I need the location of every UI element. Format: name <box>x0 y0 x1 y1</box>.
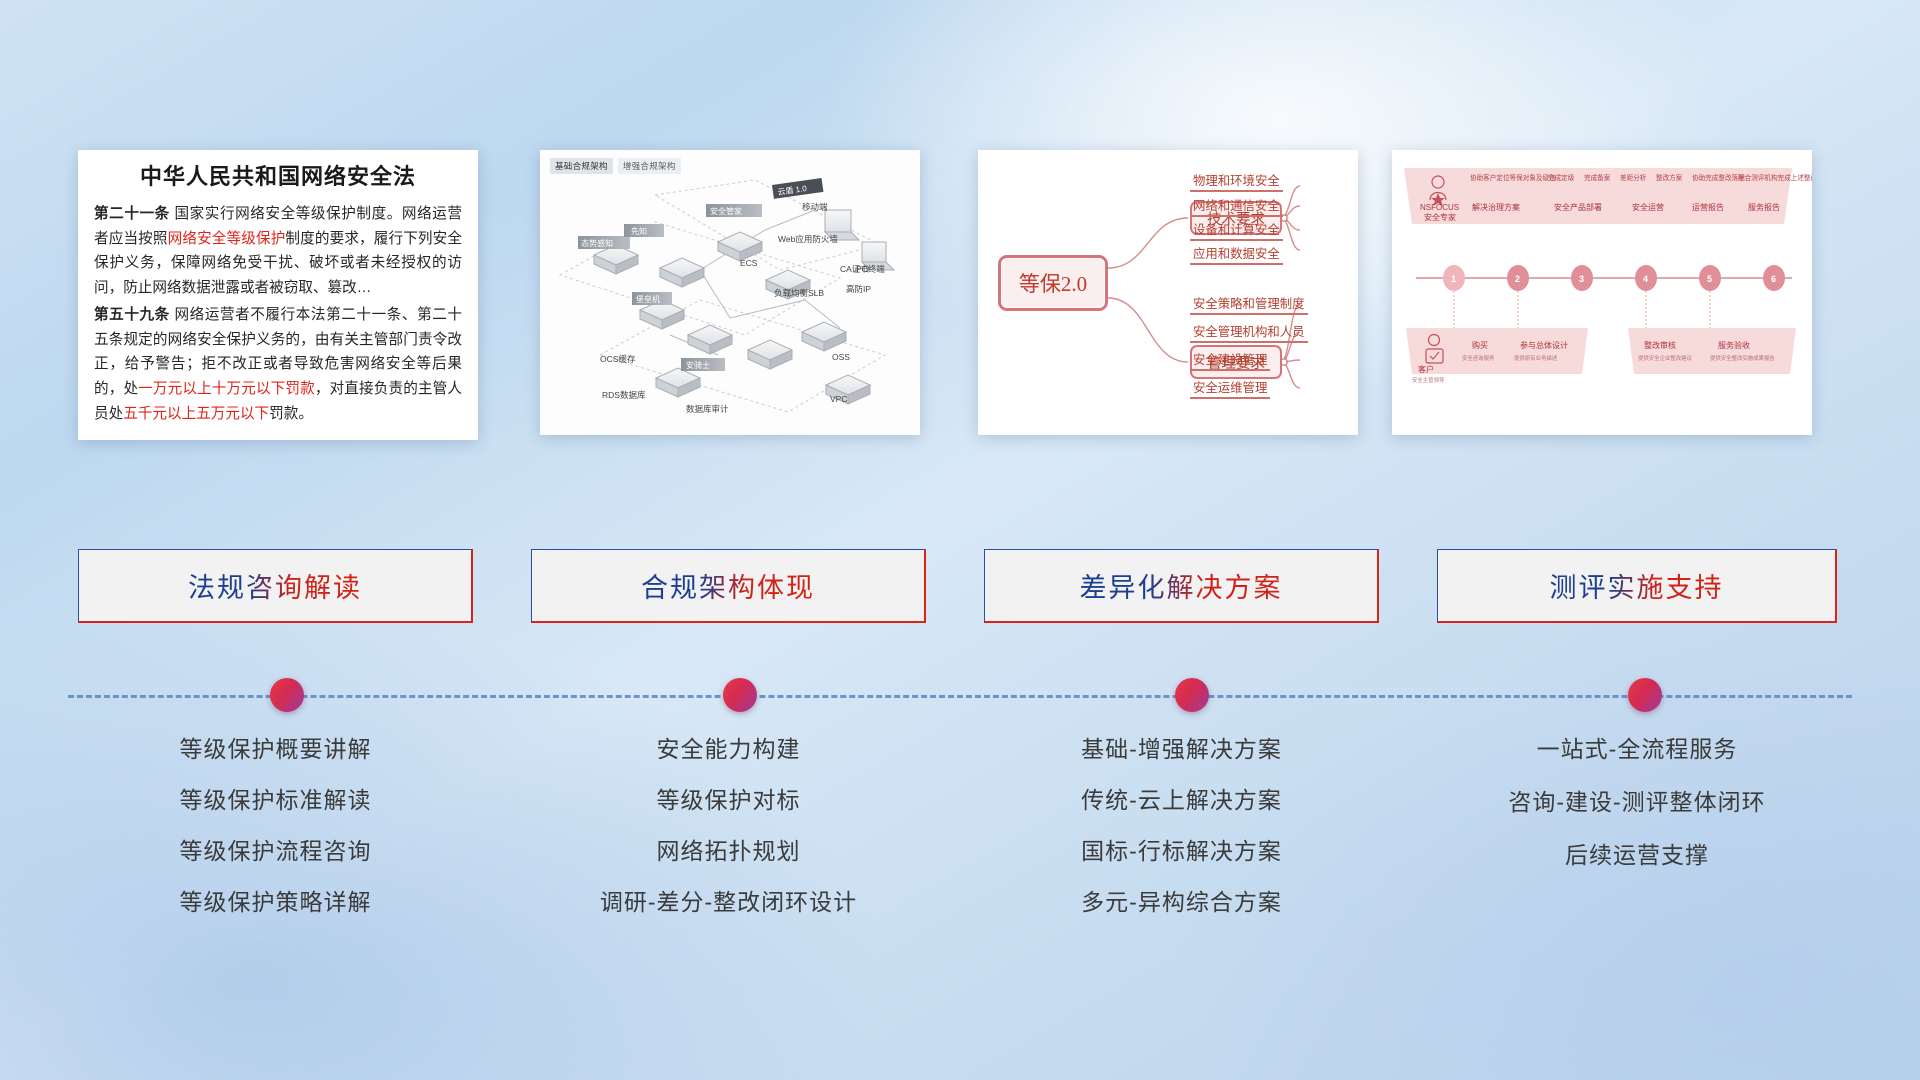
architecture-diagram: 基础合规架构 增强合规架构 <box>540 150 920 435</box>
image-card-row: 中华人民共和国网络安全法 第二十一条 国家实行网络安全等级保护制度。网络运营者应… <box>0 150 1920 450</box>
article-59-label: 第五十九条 <box>94 307 170 323</box>
bullet-column-2: 安全能力构建 等级保护对标 网络拓扑规划 调研-差分-整改闭环设计 <box>531 738 926 942</box>
section-title-box-3[interactable]: 差异化解决方案 <box>984 549 1379 623</box>
card-dengbao-mindmap[interactable]: 等保2.0 技术要求 管理要求 物理和环境安全 网络和通信安全 设备和计算安全 … <box>978 150 1358 435</box>
bottom-item-1-sub: 提供原有业务描述 <box>1514 354 1558 362</box>
mindmap-leaf-operation[interactable]: 安全运维管理 <box>1190 378 1270 399</box>
bottom-item-2-title: 整改审核 <box>1644 340 1676 350</box>
bottom-item-3-sub: 提供安全整改实施成果报告 <box>1710 354 1775 362</box>
chip-6: 配合测评机构完成上述整改项测评 <box>1738 173 1812 182</box>
chip-4: 整改方案 <box>1656 173 1683 182</box>
phase-0: 解决治理方案 <box>1472 202 1520 212</box>
mindmap-leaf-network[interactable]: 网络和通信安全 <box>1190 196 1283 217</box>
article-59-highlight-2: 五千元以上五万元以下 <box>123 406 269 422</box>
node-label-slb: 负载均衡SLB <box>774 288 824 298</box>
expert-label-role: 安全专家 <box>1424 212 1456 222</box>
bottom-item-2-sub: 提供安全企业整改建议 <box>1638 354 1693 362</box>
section-title-2-label: 合规架构体现 <box>641 566 815 605</box>
node-label-vpc: VPC <box>830 394 847 404</box>
timeline-dot-2[interactable] <box>723 678 757 712</box>
list-item: 等级保护策略详解 <box>78 891 473 914</box>
list-item: 安全能力构建 <box>531 738 926 761</box>
bullet-column-4: 一站式-全流程服务 咨询-建设-测评整体闭环 后续运营支撑 <box>1437 738 1837 897</box>
phase-2: 安全运营 <box>1632 202 1664 212</box>
section-title-4-label: 测评实施支持 <box>1550 566 1724 605</box>
expert-label-brand: NSFOCUS <box>1420 203 1459 212</box>
step-2: 2 <box>1515 274 1520 284</box>
list-item: 一站式-全流程服务 <box>1437 738 1837 761</box>
step-3: 3 <box>1579 274 1584 284</box>
mindmap-leaf-application[interactable]: 应用和数据安全 <box>1190 244 1283 265</box>
nsfocus-timeline: NSFOCUS 安全专家 协助客户定位等保对象及级别 完成定级 完成备案 差距分… <box>1392 150 1812 435</box>
bottom-item-0-title: 购买 <box>1472 340 1488 350</box>
node-label-oss: OSS <box>832 352 850 362</box>
step-6: 6 <box>1771 274 1776 284</box>
architecture-svg: 态势感知 先知 安全管家 堡垒机 安骑士 云盾 1.0 EC <box>540 150 920 435</box>
card-nsfocus-process[interactable]: NSFOCUS 安全专家 协助客户定位等保对象及级别 完成定级 完成备案 差距分… <box>1392 150 1812 435</box>
section-title-box-1[interactable]: 法规咨询解读 <box>78 549 473 623</box>
slide-canvas: 中华人民共和国网络安全法 第二十一条 国家实行网络安全等级保护制度。网络运营者应… <box>0 0 1920 1080</box>
section-title-3-label: 差异化解决方案 <box>1080 566 1283 605</box>
card-compliance-architecture[interactable]: 基础合规架构 增强合规架构 <box>540 150 920 435</box>
list-item: 等级保护流程咨询 <box>78 840 473 863</box>
node-label-bastion-host: 堡垒机 <box>636 294 660 304</box>
phase-3: 运营报告 <box>1692 202 1724 212</box>
section-title-1-label: 法规咨询解读 <box>188 566 362 605</box>
bottom-item-1-title: 参与总体设计 <box>1520 340 1568 350</box>
step-4: 4 <box>1643 274 1648 284</box>
card-cybersecurity-law[interactable]: 中华人民共和国网络安全法 第二十一条 国家实行网络安全等级保护制度。网络运营者应… <box>78 150 478 440</box>
mindmap-leaf-physical[interactable]: 物理和环境安全 <box>1190 171 1283 192</box>
bullet-column-3: 基础-增强解决方案 传统-云上解决方案 国标-行标解决方案 多元-异构综合方案 <box>984 738 1379 942</box>
bullet-column-1: 等级保护概要讲解 等级保护标准解读 等级保护流程咨询 等级保护策略详解 <box>78 738 473 942</box>
list-item: 后续运营支撑 <box>1437 844 1837 867</box>
mindmap-leaf-org[interactable]: 安全管理机构和人员 <box>1190 322 1308 343</box>
mindmap-leaf-device[interactable]: 设备和计算安全 <box>1190 220 1283 241</box>
law-article-21: 第二十一条 国家实行网络安全等级保护制度。网络运营者应当按照网络安全等级保护制度… <box>94 202 462 300</box>
node-label-ocs: OCS缓存 <box>600 354 636 364</box>
list-item: 基础-增强解决方案 <box>984 738 1379 761</box>
list-item: 多元-异构综合方案 <box>984 891 1379 914</box>
mindmap-root-node[interactable]: 等保2.0 <box>998 255 1108 311</box>
nsfocus-svg: NSFOCUS 安全专家 协助客户定位等保对象及级别 完成定级 完成备案 差距分… <box>1392 150 1812 435</box>
article-21-highlight: 网络安全等级保护 <box>168 231 286 247</box>
list-item: 咨询-建设-测评整体闭环 <box>1437 791 1837 814</box>
article-59-text-c: 罚款。 <box>269 406 313 422</box>
timeline-dot-4[interactable] <box>1628 678 1662 712</box>
list-item: 等级保护对标 <box>531 789 926 812</box>
node-label-anqishi: 安骑士 <box>686 360 710 370</box>
law-article-59: 第五十九条 网络运营者不履行本法第二十一条、第二十五条规定的网络安全保护义务的，… <box>94 303 462 426</box>
mindmap-leaf-construction[interactable]: 安全建设管理 <box>1190 350 1270 371</box>
bottom-item-0-sub: 安全咨询服务 <box>1462 354 1495 362</box>
list-item: 网络拓扑规划 <box>531 840 926 863</box>
chip-0: 协助客户定位等保对象及级别 <box>1470 173 1556 182</box>
list-item: 传统-云上解决方案 <box>984 789 1379 812</box>
timeline-dot-1[interactable] <box>270 678 304 712</box>
list-item: 国标-行标解决方案 <box>984 840 1379 863</box>
node-label-gaofang-ip: 高防IP <box>846 284 871 294</box>
node-label-mobile: 移动端 <box>802 202 828 212</box>
bottom-item-3-title: 服务验收 <box>1718 340 1750 350</box>
phase-4: 服务报告 <box>1748 202 1780 212</box>
section-title-box-2[interactable]: 合规架构体现 <box>531 549 926 623</box>
node-label-pc: PC终端 <box>856 264 885 274</box>
chip-1: 完成定级 <box>1548 173 1575 182</box>
mindmap-leaf-policy[interactable]: 安全策略和管理制度 <box>1190 294 1308 315</box>
list-item: 等级保护概要讲解 <box>78 738 473 761</box>
node-label-db-audit: 数据库审计 <box>686 404 729 414</box>
node-label-rds: RDS数据库 <box>602 390 646 400</box>
list-item: 等级保护标准解读 <box>78 789 473 812</box>
timeline-dot-3[interactable] <box>1175 678 1209 712</box>
list-item: 调研-差分-整改闭环设计 <box>531 891 926 914</box>
node-label-situational: 态势感知 <box>581 238 613 248</box>
timeline <box>68 695 1852 697</box>
client-label-name: 客户 <box>1418 364 1434 374</box>
phase-1: 安全产品部署 <box>1554 202 1602 212</box>
node-label-ecs: ECS <box>740 258 758 268</box>
law-title: 中华人民共和国网络安全法 <box>94 164 462 190</box>
node-label-waf: Web应用防火墙 <box>778 234 838 244</box>
section-title-row: 法规咨询解读 合规架构体现 差异化解决方案 测评实施支持 <box>0 549 1920 623</box>
node-label-security-butler: 安全管家 <box>710 206 742 216</box>
node-label-xianzhi: 先知 <box>631 226 647 236</box>
law-text-block: 中华人民共和国网络安全法 第二十一条 国家实行网络安全等级保护制度。网络运营者应… <box>78 150 478 439</box>
timeline-dashed-line <box>68 695 1852 698</box>
chip-3: 差距分析 <box>1620 173 1647 182</box>
client-label-role: 安全主管领导 <box>1412 376 1445 384</box>
mindmap: 等保2.0 技术要求 管理要求 物理和环境安全 网络和通信安全 设备和计算安全 … <box>978 150 1358 435</box>
section-title-box-4[interactable]: 测评实施支持 <box>1437 549 1837 623</box>
chip-2: 完成备案 <box>1584 173 1611 182</box>
step-5: 5 <box>1707 274 1712 284</box>
article-59-highlight-1: 一万元以上十万元以下罚款 <box>138 381 315 397</box>
step-1: 1 <box>1451 274 1456 284</box>
article-21-label: 第二十一条 <box>94 206 170 222</box>
